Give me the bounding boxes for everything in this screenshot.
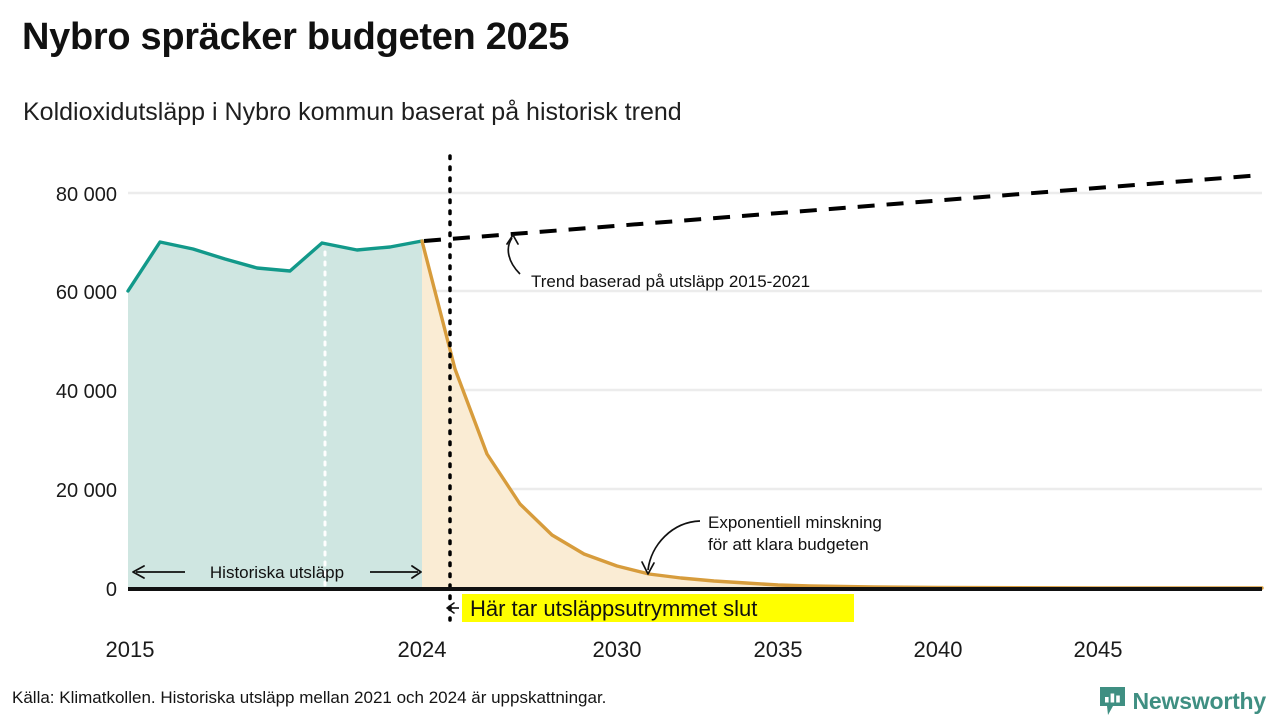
trend-line [424, 175, 1262, 241]
x-axis-labels: 2015 2024 2030 2035 2040 2045 [106, 637, 1123, 662]
historical-area-fill [128, 241, 422, 588]
budget-end-callout: Här tar utsläppsutrymmet slut [447, 594, 854, 622]
budget-annotation-line1: Exponentiell minskning [708, 513, 882, 532]
x-tick-label: 2035 [754, 637, 803, 662]
x-tick-label: 2045 [1074, 637, 1123, 662]
y-tick-label: 0 [106, 579, 117, 601]
budget-annotation-line2: för att klara budgeten [708, 535, 869, 554]
y-tick-label: 20 000 [56, 480, 117, 502]
trend-annotation-label: Trend baserad på utsläpp 2015-2021 [531, 272, 810, 291]
x-tick-label: 2030 [593, 637, 642, 662]
logo-wordmark: Newsworthy [1133, 688, 1266, 715]
budget-annotation: Exponentiell minskning för att klara bud… [642, 513, 882, 574]
y-tick-label: 60 000 [56, 282, 117, 304]
x-tick-label: 2015 [106, 637, 155, 662]
newsworthy-logo[interactable]: Newsworthy [1099, 686, 1266, 716]
historical-span-label: Historiska utsläpp [210, 563, 344, 582]
y-tick-label: 40 000 [56, 381, 117, 403]
chart-plot-area: 80 000 60 000 40 000 20 000 0 Historis [0, 0, 1280, 720]
bar-chart-speech-bubble-icon [1099, 686, 1126, 716]
x-tick-label: 2040 [914, 637, 963, 662]
y-axis-labels: 80 000 60 000 40 000 20 000 0 [56, 184, 117, 601]
chart-page: Nybro spräcker budgeten 2025 Koldioxidut… [0, 0, 1280, 720]
trend-annotation: Trend baserad på utsläpp 2015-2021 [507, 235, 810, 291]
y-tick-label: 80 000 [56, 184, 117, 206]
source-note: Källa: Klimatkollen. Historiska utsläpp … [12, 688, 606, 708]
budget-end-label: Här tar utsläppsutrymmet slut [470, 596, 757, 621]
x-tick-label: 2024 [398, 637, 447, 662]
